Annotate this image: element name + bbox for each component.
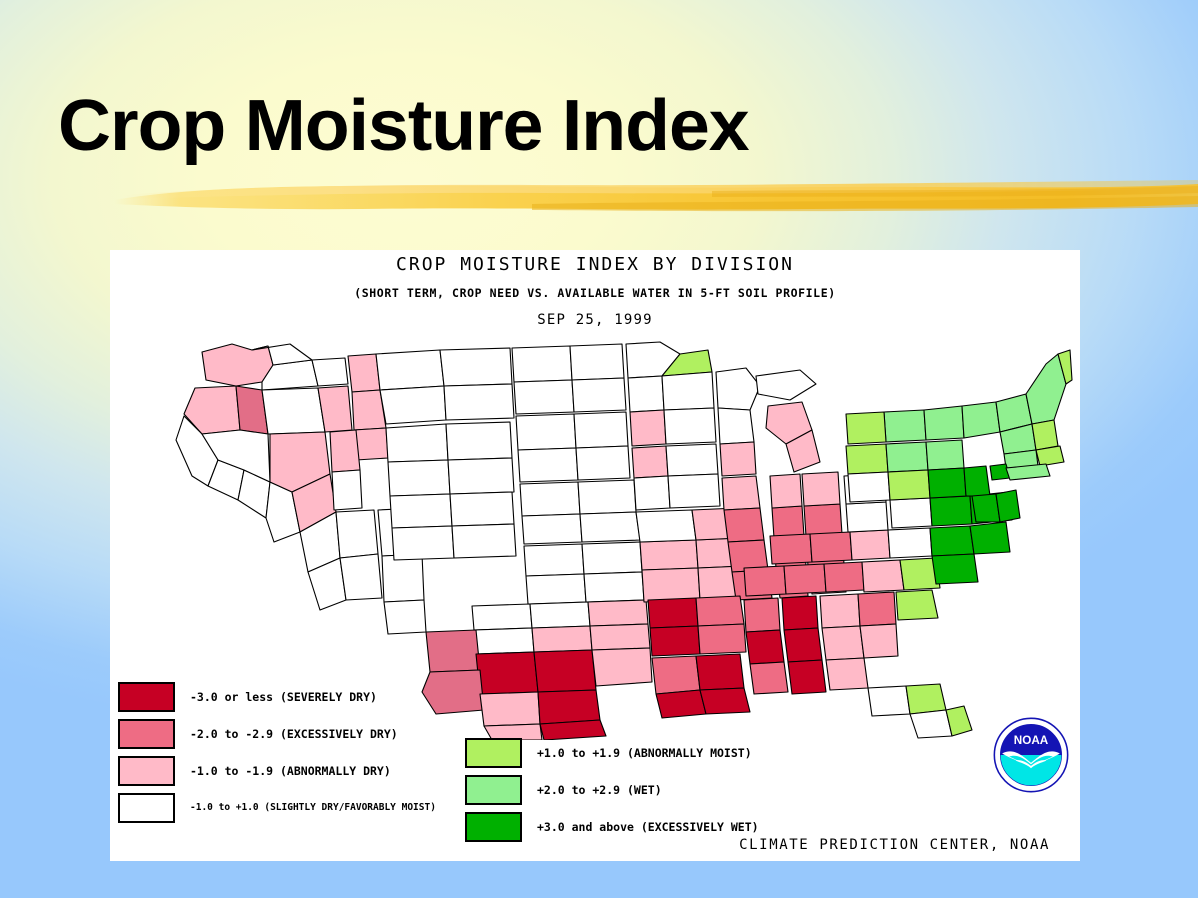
legend-wet-column: +1.0 to +1.9 (ABNORMALLY MOIST) +2.0 to … <box>465 734 759 845</box>
page-title: Crop Moisture Index <box>58 90 749 162</box>
legend-label-severely-dry: -3.0 or less (SEVERELY DRY) <box>190 690 377 704</box>
brush-stroke-decoration <box>112 174 1198 218</box>
map-subtitle: (SHORT TERM, CROP NEED VS. AVAILABLE WAT… <box>110 286 1080 300</box>
legend-item[interactable]: -1.0 to +1.0 (SLIGHTLY DRY/FAVORABLY MOI… <box>118 789 436 826</box>
map-panel: CROP MOISTURE INDEX BY DIVISION (SHORT T… <box>110 250 1080 861</box>
legend-item[interactable]: -1.0 to -1.9 (ABNORMALLY DRY) <box>118 752 436 789</box>
slide: Crop Moisture Index CROP MOIST <box>0 0 1198 898</box>
map-title: CROP MOISTURE INDEX BY DIVISION <box>110 254 1080 275</box>
noaa-logo-text: NOAA <box>1014 734 1049 747</box>
legend-item[interactable]: +2.0 to +2.9 (WET) <box>465 771 759 808</box>
legend-swatch-severely-dry <box>118 682 175 712</box>
legend-label-wet: +2.0 to +2.9 (WET) <box>537 783 662 797</box>
legend-swatch-abnormally-dry <box>118 756 175 786</box>
us-climate-division-map[interactable] <box>140 310 1075 740</box>
legend-label-abnormally-dry: -1.0 to -1.9 (ABNORMALLY DRY) <box>190 764 391 778</box>
legend-label-excessively-wet: +3.0 and above (EXCESSIVELY WET) <box>537 820 759 834</box>
legend-swatch-abnormally-moist <box>465 738 522 768</box>
legend-label-abnormally-moist: +1.0 to +1.9 (ABNORMALLY MOIST) <box>537 746 752 760</box>
legend: -3.0 or less (SEVERELY DRY) -2.0 to -2.9… <box>110 678 1080 863</box>
legend-item[interactable]: -2.0 to -2.9 (EXCESSIVELY DRY) <box>118 715 436 752</box>
legend-item[interactable]: -3.0 or less (SEVERELY DRY) <box>118 678 436 715</box>
legend-label-excessively-dry: -2.0 to -2.9 (EXCESSIVELY DRY) <box>190 727 398 741</box>
legend-swatch-excessively-dry <box>118 719 175 749</box>
legend-item[interactable]: +3.0 and above (EXCESSIVELY WET) <box>465 808 759 845</box>
legend-label-slightly-dry: -1.0 to +1.0 (SLIGHTLY DRY/FAVORABLY MOI… <box>190 802 436 813</box>
legend-dry-column: -3.0 or less (SEVERELY DRY) -2.0 to -2.9… <box>118 678 436 826</box>
legend-swatch-wet <box>465 775 522 805</box>
legend-item[interactable]: +1.0 to +1.9 (ABNORMALLY MOIST) <box>465 734 759 771</box>
legend-swatch-slightly-dry <box>118 793 175 823</box>
map-footer: CLIMATE PREDICTION CENTER, NOAA <box>739 837 1050 853</box>
legend-swatch-excessively-wet <box>465 812 522 842</box>
noaa-logo: NOAA <box>992 716 1070 794</box>
